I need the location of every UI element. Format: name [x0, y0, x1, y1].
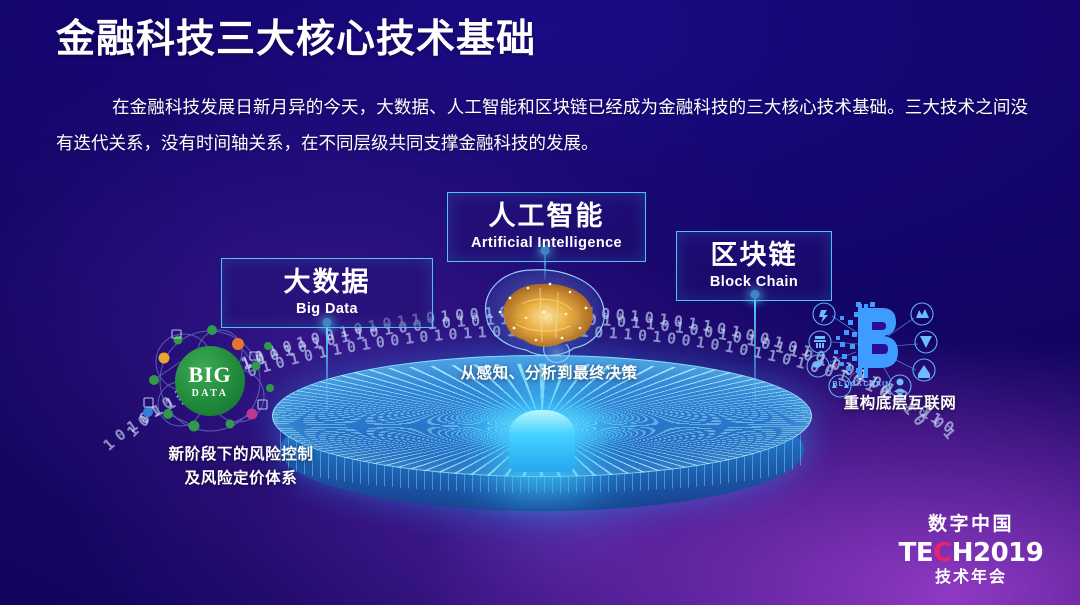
- caption-block-chain-line1: 重构底层互联网: [800, 392, 1000, 416]
- logo-line-annual-conference: 技术年会: [896, 568, 1046, 587]
- big-data-word-big: BIG: [188, 364, 231, 386]
- big-data-core-circle: BIG DATA: [175, 346, 245, 416]
- connector-big-data: [326, 322, 328, 418]
- label-box-artificial-intelligence[interactable]: 人工智能 Artificial Intelligence: [447, 192, 646, 262]
- label-big-data-cn: 大数据: [244, 267, 410, 298]
- label-block-chain-en: Block Chain: [699, 274, 809, 290]
- intro-paragraph: 在金融科技发展日新月异的今天，大数据、人工智能和区块链已经成为金融科技的三大核心…: [56, 90, 1028, 162]
- blockchain-wordmark: BLOCKCHAIN: [832, 381, 891, 388]
- caption-ai-line1: 从感知、分析到最终决策: [424, 362, 674, 386]
- event-logo: 数字中国 TECH2019 技术年会: [896, 514, 1046, 587]
- connector-block-chain: [754, 294, 756, 418]
- logo-mark-part-b: H2019: [952, 538, 1044, 568]
- caption-big-data-line2: 及风险定价体系: [108, 467, 374, 491]
- slide-canvas: 金融科技三大核心技术基础 在金融科技发展日新月异的今天，大数据、人工智能和区块链…: [0, 0, 1080, 605]
- label-ai-en: Artificial Intelligence: [470, 235, 623, 251]
- big-data-network-icon: BIG DATA: [134, 322, 286, 438]
- caption-big-data-line1: 新阶段下的风险控制: [108, 443, 374, 467]
- bitcoin-b-network-icon: BLOCKCHAIN: [796, 298, 948, 398]
- label-box-block-chain[interactable]: 区块链 Block Chain: [676, 231, 832, 301]
- label-box-big-data[interactable]: 大数据 Big Data: [221, 258, 433, 328]
- label-block-chain-cn: 区块链: [699, 240, 809, 271]
- big-data-word-data: DATA: [192, 388, 229, 399]
- label-big-data-en: Big Data: [244, 301, 410, 317]
- label-ai-cn: 人工智能: [470, 201, 623, 232]
- caption-artificial-intelligence: 从感知、分析到最终决策: [424, 362, 674, 386]
- logo-tech2019-wordmark: TECH2019: [896, 539, 1046, 569]
- caption-block-chain: 重构底层互联网: [800, 392, 1000, 416]
- page-title: 金融科技三大核心技术基础: [56, 16, 536, 65]
- logo-mark-part-a: TE: [899, 538, 934, 568]
- caption-big-data: 新阶段下的风险控制 及风险定价体系: [108, 443, 374, 491]
- logo-mark-accent: C: [933, 538, 952, 568]
- disc-core-glow: [509, 410, 575, 472]
- logo-line-digital-china: 数字中国: [896, 514, 1046, 537]
